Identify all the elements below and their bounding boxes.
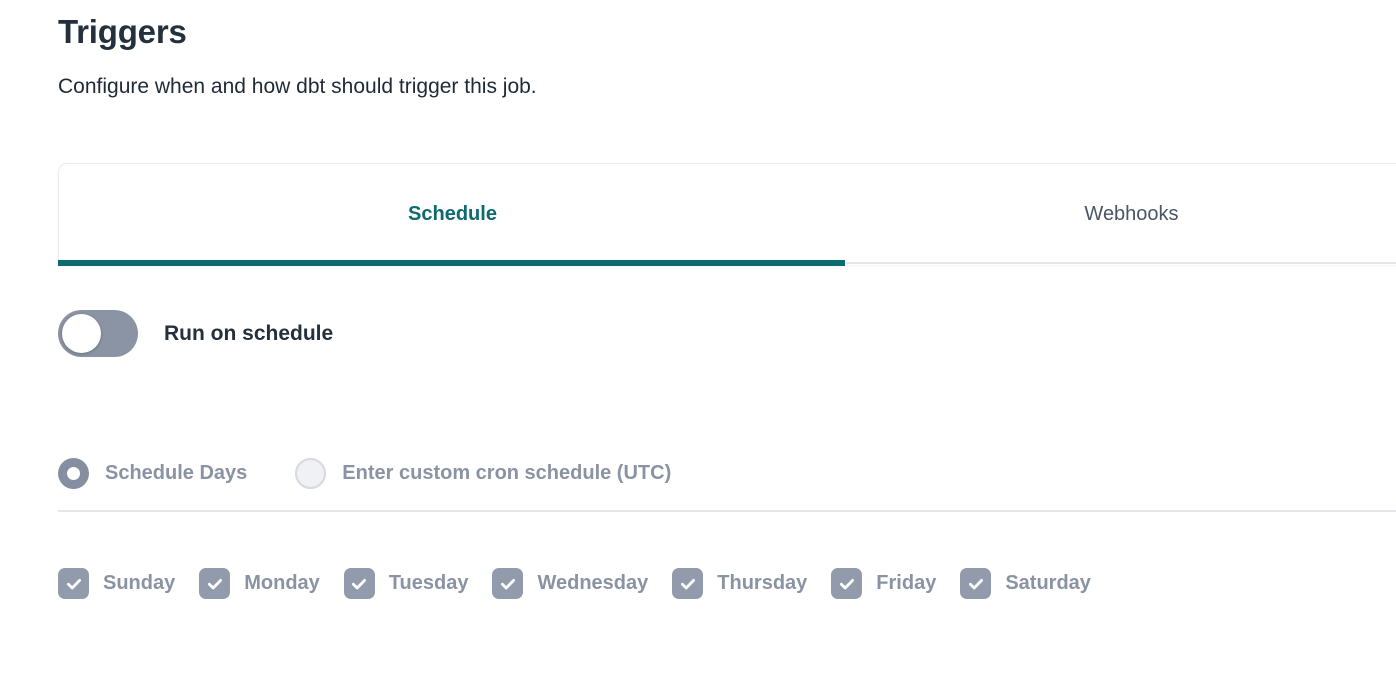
checkbox-saturday[interactable]	[960, 568, 991, 599]
tab-bar-baseline	[845, 262, 1396, 264]
day-option-thursday[interactable]: Thursday	[672, 568, 807, 599]
check-icon	[838, 575, 856, 593]
checkbox-friday[interactable]	[831, 568, 862, 599]
radio-label-custom-cron: Enter custom cron schedule (UTC)	[342, 462, 671, 485]
section-divider	[58, 510, 1396, 512]
day-label-tuesday: Tuesday	[389, 572, 469, 595]
checkbox-tuesday[interactable]	[344, 568, 375, 599]
day-label-friday: Friday	[876, 572, 936, 595]
day-label-sunday: Sunday	[103, 572, 175, 595]
day-option-sunday[interactable]: Sunday	[58, 568, 175, 599]
day-label-monday: Monday	[244, 572, 320, 595]
page-header: Triggers Configure when and how dbt shou…	[58, 12, 1358, 100]
check-icon	[65, 575, 83, 593]
radio-option-custom-cron[interactable]: Enter custom cron schedule (UTC)	[295, 458, 671, 489]
check-icon	[350, 575, 368, 593]
day-option-monday[interactable]: Monday	[199, 568, 320, 599]
checkbox-monday[interactable]	[199, 568, 230, 599]
radio-schedule-days[interactable]	[58, 458, 89, 489]
check-icon	[499, 575, 517, 593]
checkbox-wednesday[interactable]	[492, 568, 523, 599]
triggers-page: Triggers Configure when and how dbt shou…	[0, 0, 1396, 680]
run-on-schedule-row: Run on schedule	[58, 310, 333, 357]
check-icon	[206, 575, 224, 593]
radio-label-schedule-days: Schedule Days	[105, 462, 247, 485]
triggers-tab-bar: Schedule Webhooks	[58, 163, 1396, 265]
checkbox-sunday[interactable]	[58, 568, 89, 599]
day-label-saturday: Saturday	[1005, 572, 1091, 595]
radio-custom-cron[interactable]	[295, 458, 326, 489]
day-label-thursday: Thursday	[717, 572, 807, 595]
tab-active-indicator	[58, 260, 845, 266]
run-on-schedule-toggle[interactable]	[58, 310, 138, 357]
day-option-tuesday[interactable]: Tuesday	[344, 568, 469, 599]
tab-webhooks[interactable]: Webhooks	[846, 164, 1396, 265]
run-on-schedule-label: Run on schedule	[164, 322, 333, 346]
check-icon	[679, 575, 697, 593]
check-icon	[967, 575, 985, 593]
toggle-knob	[62, 314, 101, 353]
day-label-wednesday: Wednesday	[537, 572, 648, 595]
page-subtitle: Configure when and how dbt should trigge…	[58, 73, 1358, 100]
tab-underline	[58, 260, 1396, 266]
schedule-mode-radio-group: Schedule Days Enter custom cron schedule…	[58, 458, 671, 489]
day-option-wednesday[interactable]: Wednesday	[492, 568, 648, 599]
page-title: Triggers	[58, 12, 1358, 52]
day-option-saturday[interactable]: Saturday	[960, 568, 1091, 599]
checkbox-thursday[interactable]	[672, 568, 703, 599]
tab-schedule[interactable]: Schedule	[59, 164, 846, 265]
day-option-friday[interactable]: Friday	[831, 568, 936, 599]
schedule-days-checkbox-group: Sunday Monday Tuesday	[58, 568, 1091, 599]
radio-option-schedule-days[interactable]: Schedule Days	[58, 458, 247, 489]
